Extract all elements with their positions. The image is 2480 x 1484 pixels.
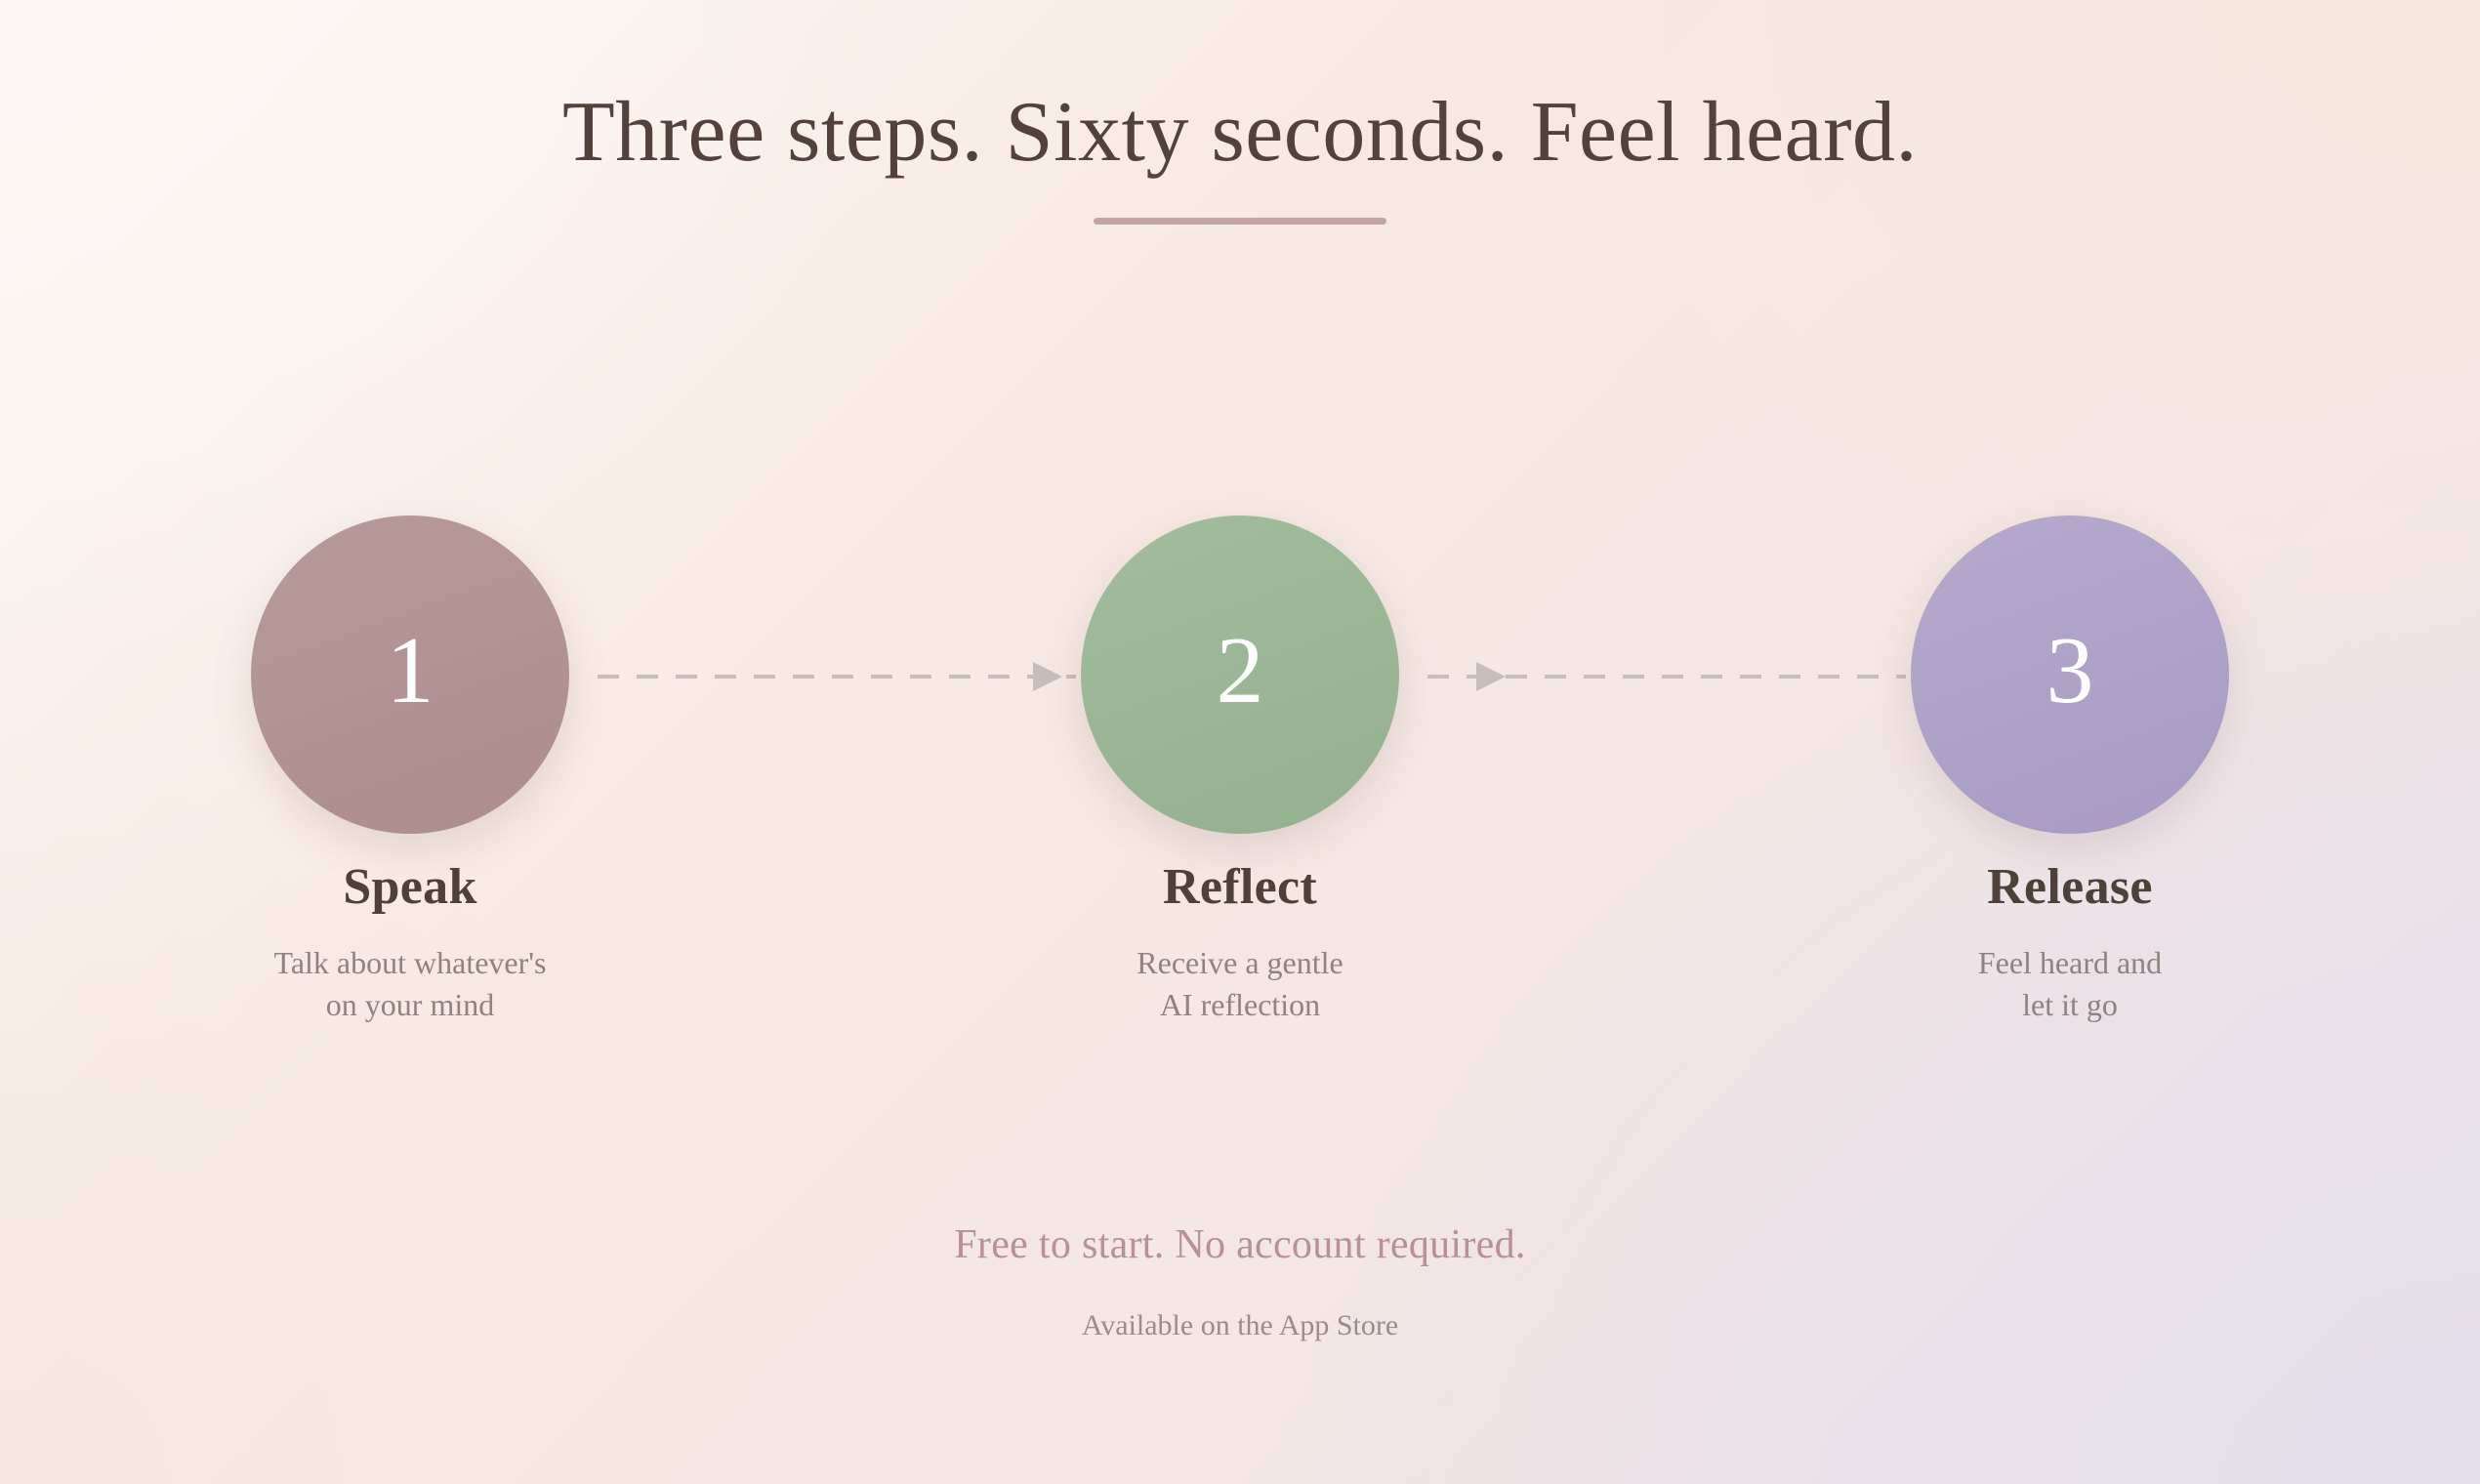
- step-circle-speak[interactable]: 1: [251, 515, 569, 834]
- step-description: Feel heard and let it go: [1797, 942, 2343, 1025]
- step-circle-release[interactable]: 3: [1911, 515, 2229, 834]
- step-description: Talk about whatever's on your mind: [137, 942, 683, 1025]
- step-label-group-release: Release Feel heard and let it go: [1797, 859, 2343, 1025]
- footer-app-store-text: Available on the App Store: [0, 1308, 2480, 1343]
- promo-slide: Three steps. Sixty seconds. Feel heard. …: [0, 0, 2480, 1484]
- step-number: 2: [1217, 623, 1264, 719]
- step-number: 1: [387, 623, 434, 719]
- arrow-right-icon: [1476, 662, 1506, 691]
- arrow-right-icon: [1033, 662, 1062, 691]
- page-title: Three steps. Sixty seconds. Feel heard.: [0, 86, 2480, 181]
- dashed-line: [598, 675, 1076, 679]
- step-description: Receive a gentle AI reflection: [967, 942, 1513, 1025]
- step-title: Reflect: [967, 859, 1513, 915]
- connector-step2-step3: [1427, 675, 1906, 679]
- footer-primary-text: Free to start. No account required.: [0, 1220, 2480, 1269]
- step-label-group-speak: Speak Talk about whatever's on your mind: [137, 859, 683, 1025]
- footer: Free to start. No account required. Avai…: [0, 1220, 2480, 1343]
- step-number: 3: [2046, 623, 2094, 719]
- header: Three steps. Sixty seconds. Feel heard.: [0, 0, 2480, 225]
- steps-labels: Speak Talk about whatever's on your mind…: [0, 859, 2480, 1113]
- steps-row: 1 2 3: [0, 515, 2480, 838]
- connector-step1-step2: [598, 675, 1076, 679]
- step-circle-reflect[interactable]: 2: [1081, 515, 1399, 834]
- step-title: Speak: [137, 859, 683, 915]
- step-label-group-reflect: Reflect Receive a gentle AI reflection: [967, 859, 1513, 1025]
- step-title: Release: [1797, 859, 2343, 915]
- title-divider: [1094, 218, 1386, 225]
